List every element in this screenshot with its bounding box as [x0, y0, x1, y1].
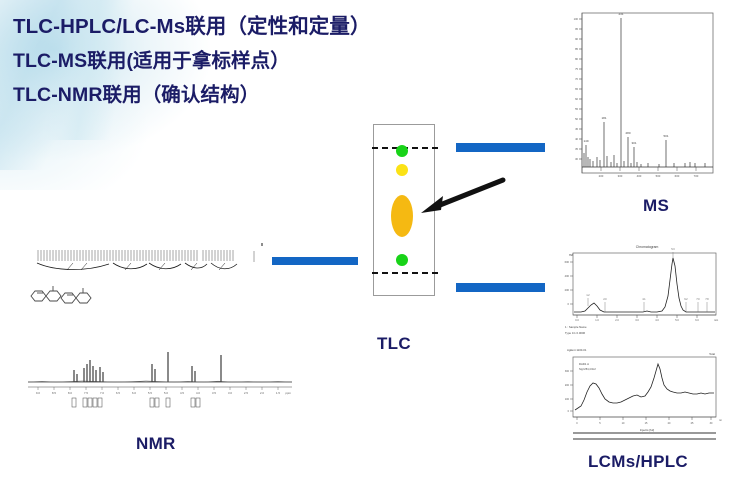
- svg-text:1.5: 1.5: [276, 391, 280, 395]
- svg-text:80: 80: [575, 57, 578, 61]
- svg-text:40: 40: [575, 137, 578, 141]
- caption-tlc: TLC: [377, 334, 411, 354]
- tlc-spot-yellow: [396, 164, 408, 176]
- svg-text:200: 200: [565, 384, 570, 387]
- title-line-ms: TLC-MS联用(适用于拿标样点）: [13, 46, 483, 76]
- svg-text:45: 45: [575, 127, 578, 131]
- svg-text:181: 181: [601, 116, 606, 120]
- svg-text:6.0: 6.0: [132, 391, 136, 395]
- svg-text:4.5: 4.5: [180, 391, 184, 395]
- svg-text:Agilent 1100-01: Agilent 1100-01: [567, 348, 587, 352]
- svg-text:75: 75: [575, 67, 578, 71]
- caption-lcms-hplc: LCMs/HPLC: [588, 452, 688, 472]
- chemical-structure-sketch: [25, 282, 95, 316]
- svg-text:Type 0.1 0.0006: Type 0.1 0.0006: [565, 331, 586, 335]
- svg-text:149: 149: [583, 139, 588, 143]
- svg-text:400: 400: [565, 274, 570, 278]
- svg-text:min: min: [714, 318, 719, 322]
- svg-text:DAD1 A: DAD1 A: [579, 362, 589, 366]
- svg-text:600: 600: [675, 174, 680, 178]
- connector-bar-tlc-to-lcms: [456, 283, 545, 292]
- svg-text:3.5: 3.5: [212, 391, 216, 395]
- svg-text:35: 35: [575, 147, 578, 151]
- title-line-hplc-lcms: TLC-HPLC/LC-Ms联用（定性和定量）: [13, 12, 483, 42]
- svg-text:ppm: ppm: [286, 391, 292, 395]
- svg-text:0: 0: [576, 422, 578, 425]
- tlc-spot-green-bottom: [396, 254, 408, 266]
- svg-text:7.0: 7.0: [100, 391, 104, 395]
- svg-text:60: 60: [575, 97, 578, 101]
- tlc-spot-green-top: [396, 145, 408, 157]
- caption-nmr: NMR: [136, 434, 176, 454]
- svg-text:231: 231: [618, 12, 623, 16]
- svg-text:10: 10: [622, 422, 625, 425]
- svg-text:65: 65: [575, 87, 578, 91]
- svg-text:mi: mi: [719, 418, 722, 422]
- ms-spectrum-panel: 1009590 858075 706560 555045 403530 2003…: [569, 5, 719, 185]
- svg-text:5: 5: [599, 422, 601, 425]
- svg-text:200: 200: [565, 288, 570, 292]
- svg-text:8.5: 8.5: [52, 391, 56, 395]
- svg-text:100: 100: [574, 17, 579, 21]
- svg-text:4.0: 4.0: [655, 319, 659, 322]
- svg-text:3.0: 3.0: [228, 391, 232, 395]
- svg-text:50: 50: [575, 117, 578, 121]
- svg-text:Total: Total: [709, 352, 715, 356]
- svg-text:2.0: 2.0: [615, 319, 619, 322]
- svg-text:500: 500: [656, 174, 661, 178]
- svg-text:30: 30: [710, 422, 713, 425]
- svg-text:280: 280: [625, 131, 630, 135]
- svg-text:200: 200: [599, 174, 604, 178]
- svg-text:Chromatogram: Chromatogram: [636, 245, 659, 249]
- svg-text:Injects [ful]: Injects [ful]: [640, 428, 655, 432]
- pointer-arrow-icon: [415, 170, 510, 230]
- svg-text:300: 300: [565, 370, 570, 373]
- svg-text:3.0: 3.0: [635, 319, 639, 322]
- svg-text:600: 600: [565, 260, 570, 264]
- title-line-nmr: TLC-NMR联用（确认结构）: [13, 80, 483, 110]
- svg-text:55: 55: [575, 107, 578, 111]
- svg-text:9.0: 9.0: [36, 391, 40, 395]
- svg-text:30: 30: [575, 157, 578, 161]
- svg-text:95: 95: [575, 27, 578, 31]
- svg-text:5.3: 5.3: [671, 249, 675, 251]
- svg-text:6.0: 6.0: [695, 319, 699, 322]
- svg-text:0: 0: [568, 302, 570, 306]
- svg-text:0: 0: [568, 410, 570, 413]
- tlc-spot-orange-major: [391, 195, 413, 237]
- nmr-spectrum-panel: 9.08.58.0 7.57.06.5 6.05.55.0 4.54.03.5 …: [22, 348, 297, 410]
- svg-text:5.0: 5.0: [675, 319, 679, 322]
- svg-text:5.5: 5.5: [148, 391, 152, 395]
- svg-text:4.0: 4.0: [196, 391, 200, 395]
- svg-text:70: 70: [575, 77, 578, 81]
- title-block: TLC-HPLC/LC-Ms联用（定性和定量） TLC-MS联用(适用于拿标样点…: [13, 12, 483, 110]
- caption-ms: MS: [643, 196, 669, 216]
- svg-text:5.0: 5.0: [164, 391, 168, 395]
- svg-text:300: 300: [618, 174, 623, 178]
- svg-text:20: 20: [668, 422, 671, 425]
- svg-text:8.0: 8.0: [68, 391, 72, 395]
- svg-text:2.5: 2.5: [244, 391, 248, 395]
- connector-bar-tlc-to-ms: [456, 143, 545, 152]
- svg-text:7.5: 7.5: [84, 391, 88, 395]
- svg-text:501: 501: [663, 134, 668, 138]
- svg-text:6.5: 6.5: [116, 391, 120, 395]
- nmr-expansion-panel: [35, 246, 270, 280]
- svg-text:90: 90: [575, 37, 578, 41]
- svg-text:301: 301: [631, 141, 636, 145]
- svg-text:0.0: 0.0: [575, 319, 579, 322]
- svg-text:2.0: 2.0: [260, 391, 264, 395]
- lc-chromatogram-lower-panel: Agilent 1100-01 Total DAD1 A Sig=254,4 R…: [559, 345, 729, 445]
- svg-text:400: 400: [637, 174, 642, 178]
- lc-chromatogram-upper-panel: Chromatogram mAU TC-3.085 600400 2000: [559, 240, 729, 338]
- svg-text:85: 85: [575, 47, 578, 51]
- svg-text:15: 15: [645, 422, 648, 425]
- svg-text:25: 25: [691, 422, 694, 425]
- svg-text:700: 700: [694, 174, 699, 178]
- svg-text:1.0: 1.0: [595, 319, 599, 322]
- svg-text:Sig=254,4 Ref: Sig=254,4 Ref: [579, 367, 596, 371]
- connector-bar-tlc-to-nmr: [272, 257, 358, 265]
- tlc-origin-line: [372, 272, 438, 274]
- svg-text:100: 100: [565, 398, 570, 401]
- svg-text:1 : Sample Name: 1 : Sample Name: [565, 325, 587, 329]
- slide-canvas: TLC-HPLC/LC-Ms联用（定性和定量） TLC-MS联用(适用于拿标样点…: [0, 0, 738, 484]
